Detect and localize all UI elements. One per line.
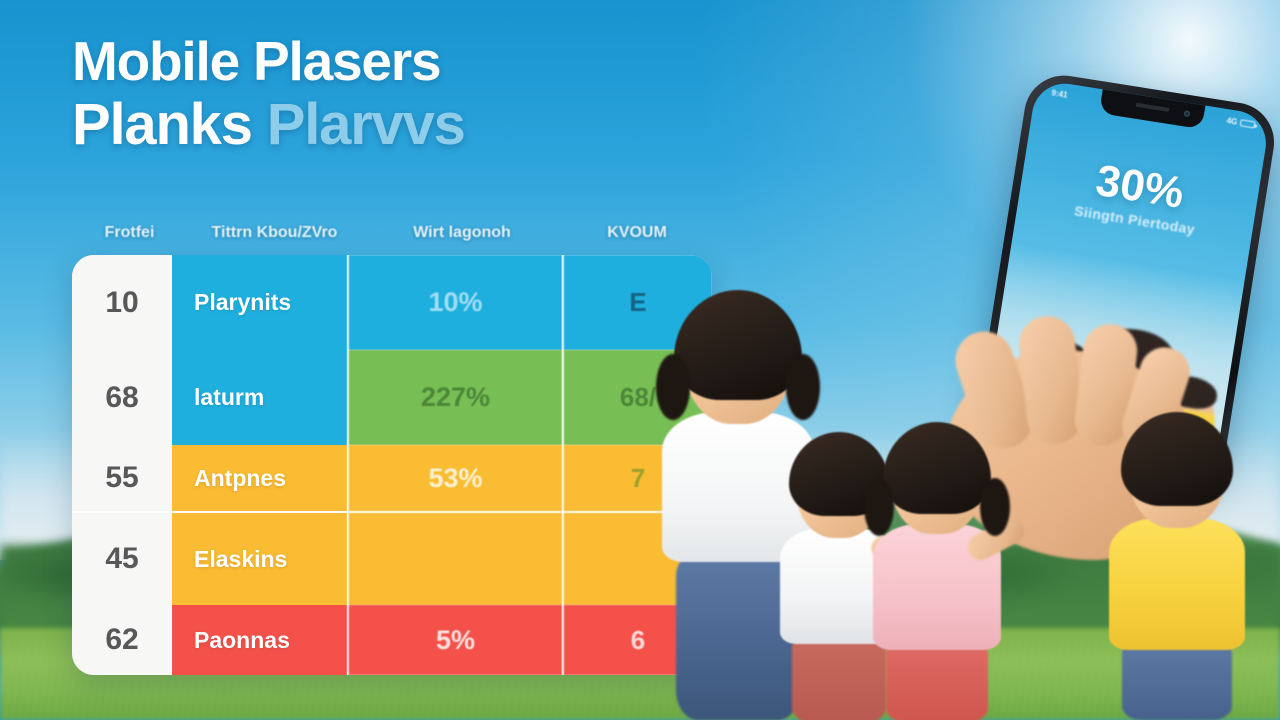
row-name: Elaskins [172, 513, 347, 605]
legs [1122, 644, 1232, 720]
pigtail-right [786, 354, 820, 420]
headline-line-2: Planks Plarvvs [72, 96, 722, 154]
headline-line-1: Mobile Plasers [72, 34, 722, 89]
legs [886, 644, 988, 720]
table-row[interactable]: 10 Plarynits 10% E [72, 255, 712, 350]
earpiece-speaker [1135, 103, 1169, 112]
row-name: Plarynits [172, 255, 347, 350]
table-row[interactable]: 68 laturm 227% 68/ [72, 350, 712, 445]
row-index: 62 [72, 605, 172, 675]
child-boy-yellow-shirt [1098, 420, 1256, 720]
column-header-0: Frotfei [72, 224, 187, 242]
row-name: Antpnes [172, 445, 347, 511]
row-percent: 5% [347, 605, 562, 675]
pigtail-left [656, 354, 690, 420]
column-header-1: Tittrn Kbou/ZVro [187, 224, 362, 242]
table-row[interactable]: 62 Paonnas 5% 6 [72, 605, 712, 675]
table-row[interactable]: 45 Elaskins [72, 513, 712, 605]
row-percent: 10% [347, 255, 562, 350]
status-bar-right: 4G [1226, 116, 1256, 129]
phone-notch [1099, 89, 1205, 129]
hair [674, 290, 802, 400]
headline-line-2-main: Planks [72, 92, 252, 157]
hair [1121, 412, 1233, 506]
headline-block: Mobile Plasers Planks Plarvvs [72, 34, 722, 154]
table-row[interactable]: 55 Antpnes 53% 7 [72, 445, 712, 513]
row-index: 45 [72, 513, 172, 605]
row-name: Paonnas [172, 605, 347, 675]
battery-icon [1240, 119, 1256, 128]
column-header-2: Wirt lagonoh [362, 224, 562, 242]
row-index: 68 [72, 350, 172, 445]
status-bar-time: 9:41 [1051, 88, 1068, 99]
row-index: 10 [72, 255, 172, 350]
data-table-card: 10 Plarynits 10% E 68 laturm 227% 68/ 55… [72, 255, 712, 675]
headline-line-2-accent: Plarvvs [267, 92, 465, 157]
pigtail-left [864, 478, 894, 536]
row-percent: 227% [347, 350, 562, 445]
child-girl-pink-shirt [862, 430, 1012, 720]
front-camera-icon [1184, 110, 1191, 117]
torso [1109, 518, 1245, 650]
column-header-3: KVOUM [562, 224, 712, 242]
signal-label: 4G [1226, 116, 1238, 127]
row-index: 55 [72, 445, 172, 511]
pigtail-right [980, 478, 1010, 536]
hair [883, 422, 991, 514]
row-percent [347, 513, 562, 605]
row-percent: 53% [347, 445, 562, 511]
table-column-headers: Frotfei Tittrn Kbou/ZVro Wirt lagonoh KV… [72, 216, 712, 250]
row-name: laturm [172, 350, 347, 445]
